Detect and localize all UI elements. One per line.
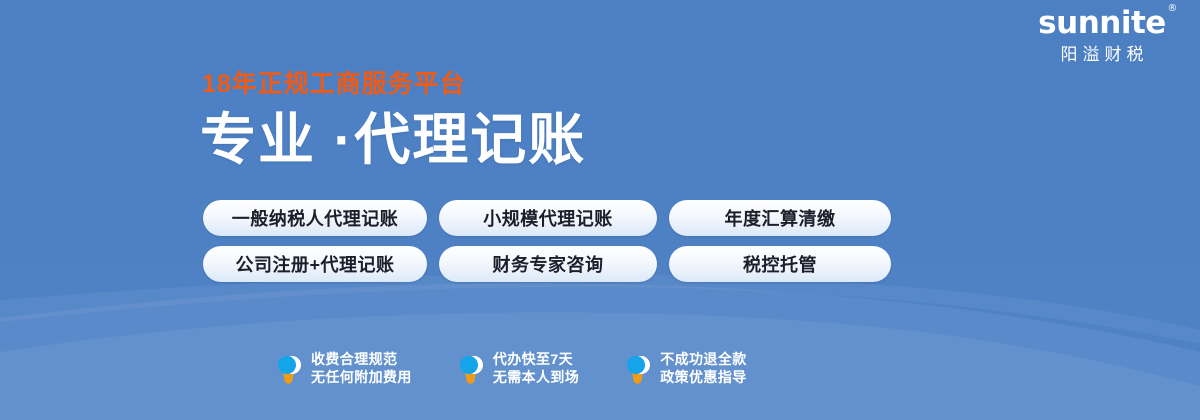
service-pill-row: 公司注册+代理记账 财务专家咨询 税控托管 <box>203 246 903 282</box>
feature-item-guarantee: 不成功退全款 政策优惠指导 <box>625 350 746 386</box>
feature-line-1: 不成功退全款 <box>660 350 746 368</box>
logo-chinese-name: 阳溢财税 <box>1022 46 1182 63</box>
service-pill-tax-control-custody[interactable]: 税控托管 <box>669 246 891 282</box>
registered-trademark-icon: ® <box>1167 4 1177 14</box>
service-pill-general-taxpayer[interactable]: 一般纳税人代理记账 <box>203 200 427 236</box>
feature-line-1: 代办快至7天 <box>493 350 579 368</box>
feature-line-1: 收费合理规范 <box>311 350 412 368</box>
person-badge-icon <box>625 351 651 385</box>
service-pill-annual-settlement[interactable]: 年度汇算清缴 <box>669 200 891 236</box>
feature-text-pricing: 收费合理规范 无任何附加费用 <box>311 350 412 386</box>
service-pill-company-registration[interactable]: 公司注册+代理记账 <box>203 246 427 282</box>
feature-text-guarantee: 不成功退全款 政策优惠指导 <box>660 350 746 386</box>
person-badge-icon <box>458 351 484 385</box>
person-badge-icon <box>276 351 302 385</box>
promo-banner: sunnite ® 阳溢财税 18年正规工商服务平台 专业 ·代理记账 一般纳税… <box>0 0 1200 420</box>
logo-wordmark: sunnite ® <box>1038 8 1166 39</box>
feature-line-2: 无需本人到场 <box>493 368 579 386</box>
service-pill-small-scale[interactable]: 小规模代理记账 <box>439 200 657 236</box>
feature-line-2: 政策优惠指导 <box>660 368 746 386</box>
feature-line-2: 无任何附加费用 <box>311 368 412 386</box>
feature-item-pricing: 收费合理规范 无任何附加费用 <box>276 350 412 386</box>
logo-wordmark-text: sunnite <box>1038 5 1166 41</box>
feature-text-speed: 代办快至7天 无需本人到场 <box>493 350 579 386</box>
service-pill-finance-consult[interactable]: 财务专家咨询 <box>439 246 657 282</box>
brand-logo[interactable]: sunnite ® 阳溢财税 <box>1022 8 1182 63</box>
service-pill-group: 一般纳税人代理记账 小规模代理记账 年度汇算清缴 公司注册+代理记账 财务专家咨… <box>203 200 903 282</box>
service-pill-row: 一般纳税人代理记账 小规模代理记账 年度汇算清缴 <box>203 200 903 236</box>
eyebrow-text: 18年正规工商服务平台 <box>202 72 586 97</box>
feature-strip: 收费合理规范 无任何附加费用 代办快至7天 无需本人到场 <box>276 350 747 386</box>
feature-item-speed: 代办快至7天 无需本人到场 <box>458 350 579 386</box>
page-title: 专业 ·代理记账 <box>200 111 586 170</box>
headline-block: 18年正规工商服务平台 专业 ·代理记账 <box>200 72 586 170</box>
